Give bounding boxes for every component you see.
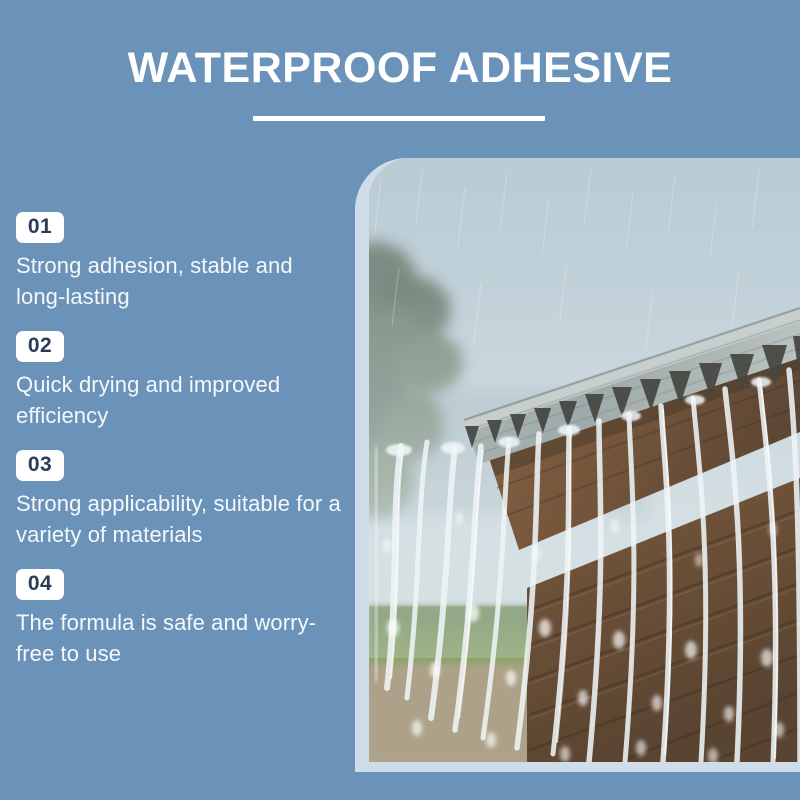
list-item: 01 Strong adhesion, stable and long-last… — [16, 212, 352, 312]
list-item: 03 Strong applicability, suitable for a … — [16, 450, 352, 550]
page-title: WATERPROOF ADHESIVE — [0, 42, 800, 94]
rain-roof-illustration — [369, 158, 800, 762]
title-divider — [253, 116, 545, 121]
promo-page: WATERPROOF ADHESIVE 01 Strong adhesion, … — [0, 0, 800, 800]
rain-roof-photo — [369, 158, 800, 762]
photo-panel — [355, 158, 800, 772]
list-item: 04 The formula is safe and worry-free to… — [16, 569, 352, 669]
list-item: 02 Quick drying and improved efficiency — [16, 331, 352, 431]
status-badge: 04 — [16, 569, 64, 600]
title-block: WATERPROOF ADHESIVE — [0, 0, 800, 140]
feature-text: The formula is safe and worry-free to us… — [16, 607, 346, 669]
status-badge: 03 — [16, 450, 64, 481]
feature-text: Strong adhesion, stable and long-lasting — [16, 250, 346, 312]
status-badge: 01 — [16, 212, 64, 243]
status-badge: 02 — [16, 331, 64, 362]
feature-list: 01 Strong adhesion, stable and long-last… — [16, 212, 352, 669]
feature-text: Strong applicability, suitable for a var… — [16, 488, 346, 550]
feature-text: Quick drying and improved efficiency — [16, 369, 346, 431]
